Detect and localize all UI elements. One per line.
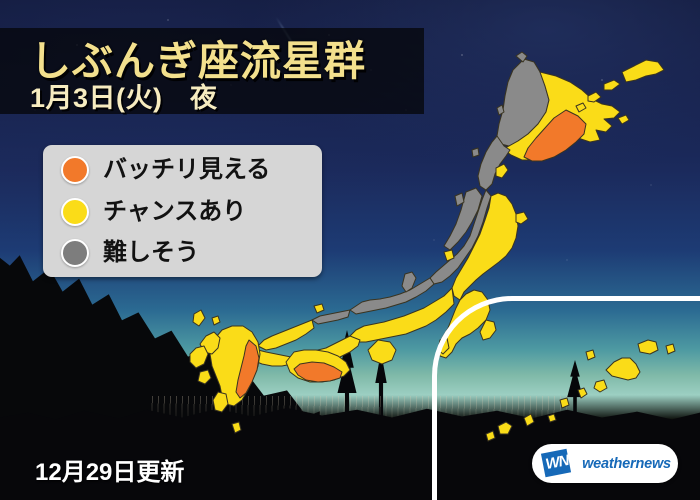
legend-swatch-orange-icon <box>61 156 89 184</box>
region-okinawa-3 <box>578 388 587 398</box>
region-amakusa <box>198 370 211 384</box>
region-kuril-island-5 <box>618 115 629 124</box>
region-tohoku-pacific-cape <box>516 212 528 224</box>
region-kuril-island-2 <box>604 80 620 90</box>
legend-item-difficult: 難しそう <box>61 239 199 267</box>
region-oki <box>314 304 324 313</box>
legend-item-chance: チャンスあり <box>61 198 246 226</box>
region-kuril-islands <box>622 60 664 82</box>
region-nagasaki <box>190 346 208 368</box>
region-hokkaido-islet-okushiri <box>472 148 479 157</box>
region-okinawa-iriomote <box>486 431 495 441</box>
region-okinawa-2 <box>594 380 607 392</box>
region-tsushima <box>193 310 205 326</box>
region-okinawa-5 <box>548 414 556 422</box>
legend-swatch-gray-icon <box>61 239 89 267</box>
page-subtitle: 1月3日(火) 夜 <box>30 76 218 115</box>
legend-label-clear: バッチリ見える <box>103 158 270 182</box>
legend-label-difficult: 難しそう <box>103 241 199 265</box>
region-okinawa-yaeyama <box>498 422 512 434</box>
region-kii-peninsula <box>368 340 396 364</box>
region-okinawa-kume <box>586 350 595 360</box>
region-okinawa-main <box>606 358 640 380</box>
region-okinawa-miyako <box>524 414 534 426</box>
region-kuril-island-3 <box>588 92 601 102</box>
legend-label-chance: チャンスあり <box>103 200 246 224</box>
wn-logo-mark-icon: WN <box>539 450 575 477</box>
region-okinawa-amami <box>638 340 658 354</box>
weathernews-logo: WN weathernews <box>532 444 678 483</box>
update-timestamp: 12月29日更新 <box>35 452 184 487</box>
legend-box: バッチリ見える チャンスあり 難しそう <box>43 145 322 277</box>
region-iki <box>212 316 220 325</box>
legend-item-clear: バッチリ見える <box>61 156 270 184</box>
legend-swatch-yellow-icon <box>61 198 89 226</box>
weathernews-wordmark: weathernews <box>582 456 671 472</box>
region-okinawa-4 <box>560 398 569 408</box>
infographic-root: しぶんぎ座流星群 1月3日(火) 夜 バッチリ見える チャンスあり 難しそう 1… <box>0 0 700 500</box>
region-kyushu-south-tip <box>213 392 228 412</box>
region-chugoku-yellow-2 <box>258 320 314 350</box>
region-tanegashima <box>232 422 241 433</box>
region-okinawa-tokunoshima <box>666 344 675 354</box>
